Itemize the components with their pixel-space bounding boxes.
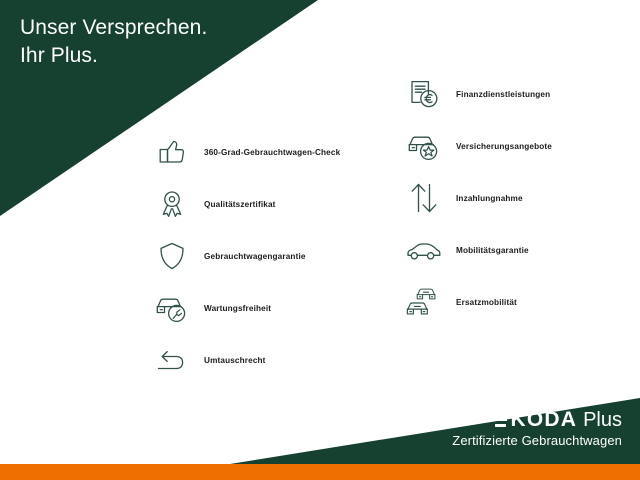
- feature-label: Versicherungsangebote: [450, 142, 552, 151]
- feature-label: Finanzdienstleistungen: [450, 90, 550, 99]
- brand-lockup: KODA Plus Zertifizierte Gebrauchtwagen: [452, 409, 622, 450]
- headline-line-2: Ihr Plus.: [20, 42, 207, 70]
- feature-label: Inzahlungnahme: [450, 194, 523, 203]
- feature-item-mobility-guarantee: Mobilitätsgarantie: [398, 224, 552, 276]
- thumbs-up-icon: [146, 129, 198, 175]
- promo-graphic: Unser Versprechen. Ihr Plus. 360-Grad-Ge…: [0, 0, 640, 480]
- feature-label: Qualitätszertifikat: [198, 200, 276, 209]
- car-side-icon: [398, 227, 450, 273]
- feature-label: Gebrauchtwagengarantie: [198, 252, 306, 261]
- feature-list-left: 360-Grad-Gebrauchtwagen-Check Qualitätsz…: [146, 126, 340, 386]
- award-rosette-icon: [146, 181, 198, 227]
- car-wrench-icon: [146, 285, 198, 331]
- feature-label: Mobilitätsgarantie: [450, 246, 529, 255]
- brand-wordmark-row: KODA Plus: [452, 409, 622, 431]
- feature-label: Wartungsfreiheit: [198, 304, 271, 313]
- headline-line-1: Unser Versprechen.: [20, 14, 207, 42]
- feature-list-right: Finanzdienstleistungen Versicherungsange…: [398, 68, 552, 328]
- feature-item-return-right: Umtauschrecht: [146, 334, 340, 386]
- brand-plus-text: Plus: [583, 409, 622, 431]
- car-star-icon: [398, 123, 450, 169]
- brand-subtitle: Zertifizierte Gebrauchtwagen: [452, 432, 622, 450]
- feature-item-quality-certificate: Qualitätszertifikat: [146, 178, 340, 230]
- skoda-wordmark-text: KODA: [510, 409, 577, 431]
- document-euro-icon: [398, 71, 450, 117]
- arrows-up-down-icon: [398, 175, 450, 221]
- feature-label: 360-Grad-Gebrauchtwagen-Check: [198, 148, 340, 157]
- return-arrow-icon: [146, 337, 198, 383]
- feature-item-replacement-mobility: Ersatzmobilität: [398, 276, 552, 328]
- orange-bottom-bar: [0, 464, 640, 480]
- feature-item-maintenance: Wartungsfreiheit: [146, 282, 340, 334]
- feature-item-insurance: Versicherungsangebote: [398, 120, 552, 172]
- feature-item-trade-in: Inzahlungnahme: [398, 172, 552, 224]
- feature-item-financial-services: Finanzdienstleistungen: [398, 68, 552, 120]
- feature-item-warranty: Gebrauchtwagengarantie: [146, 230, 340, 282]
- feature-label: Ersatzmobilität: [450, 298, 517, 307]
- feature-item-360-check: 360-Grad-Gebrauchtwagen-Check: [146, 126, 340, 178]
- headline: Unser Versprechen. Ihr Plus.: [20, 14, 207, 70]
- skoda-wordmark: KODA: [493, 409, 577, 431]
- shield-icon: [146, 233, 198, 279]
- skoda-s-glyph-icon: [493, 411, 508, 427]
- two-cars-icon: [398, 279, 450, 325]
- feature-label: Umtauschrecht: [198, 356, 266, 365]
